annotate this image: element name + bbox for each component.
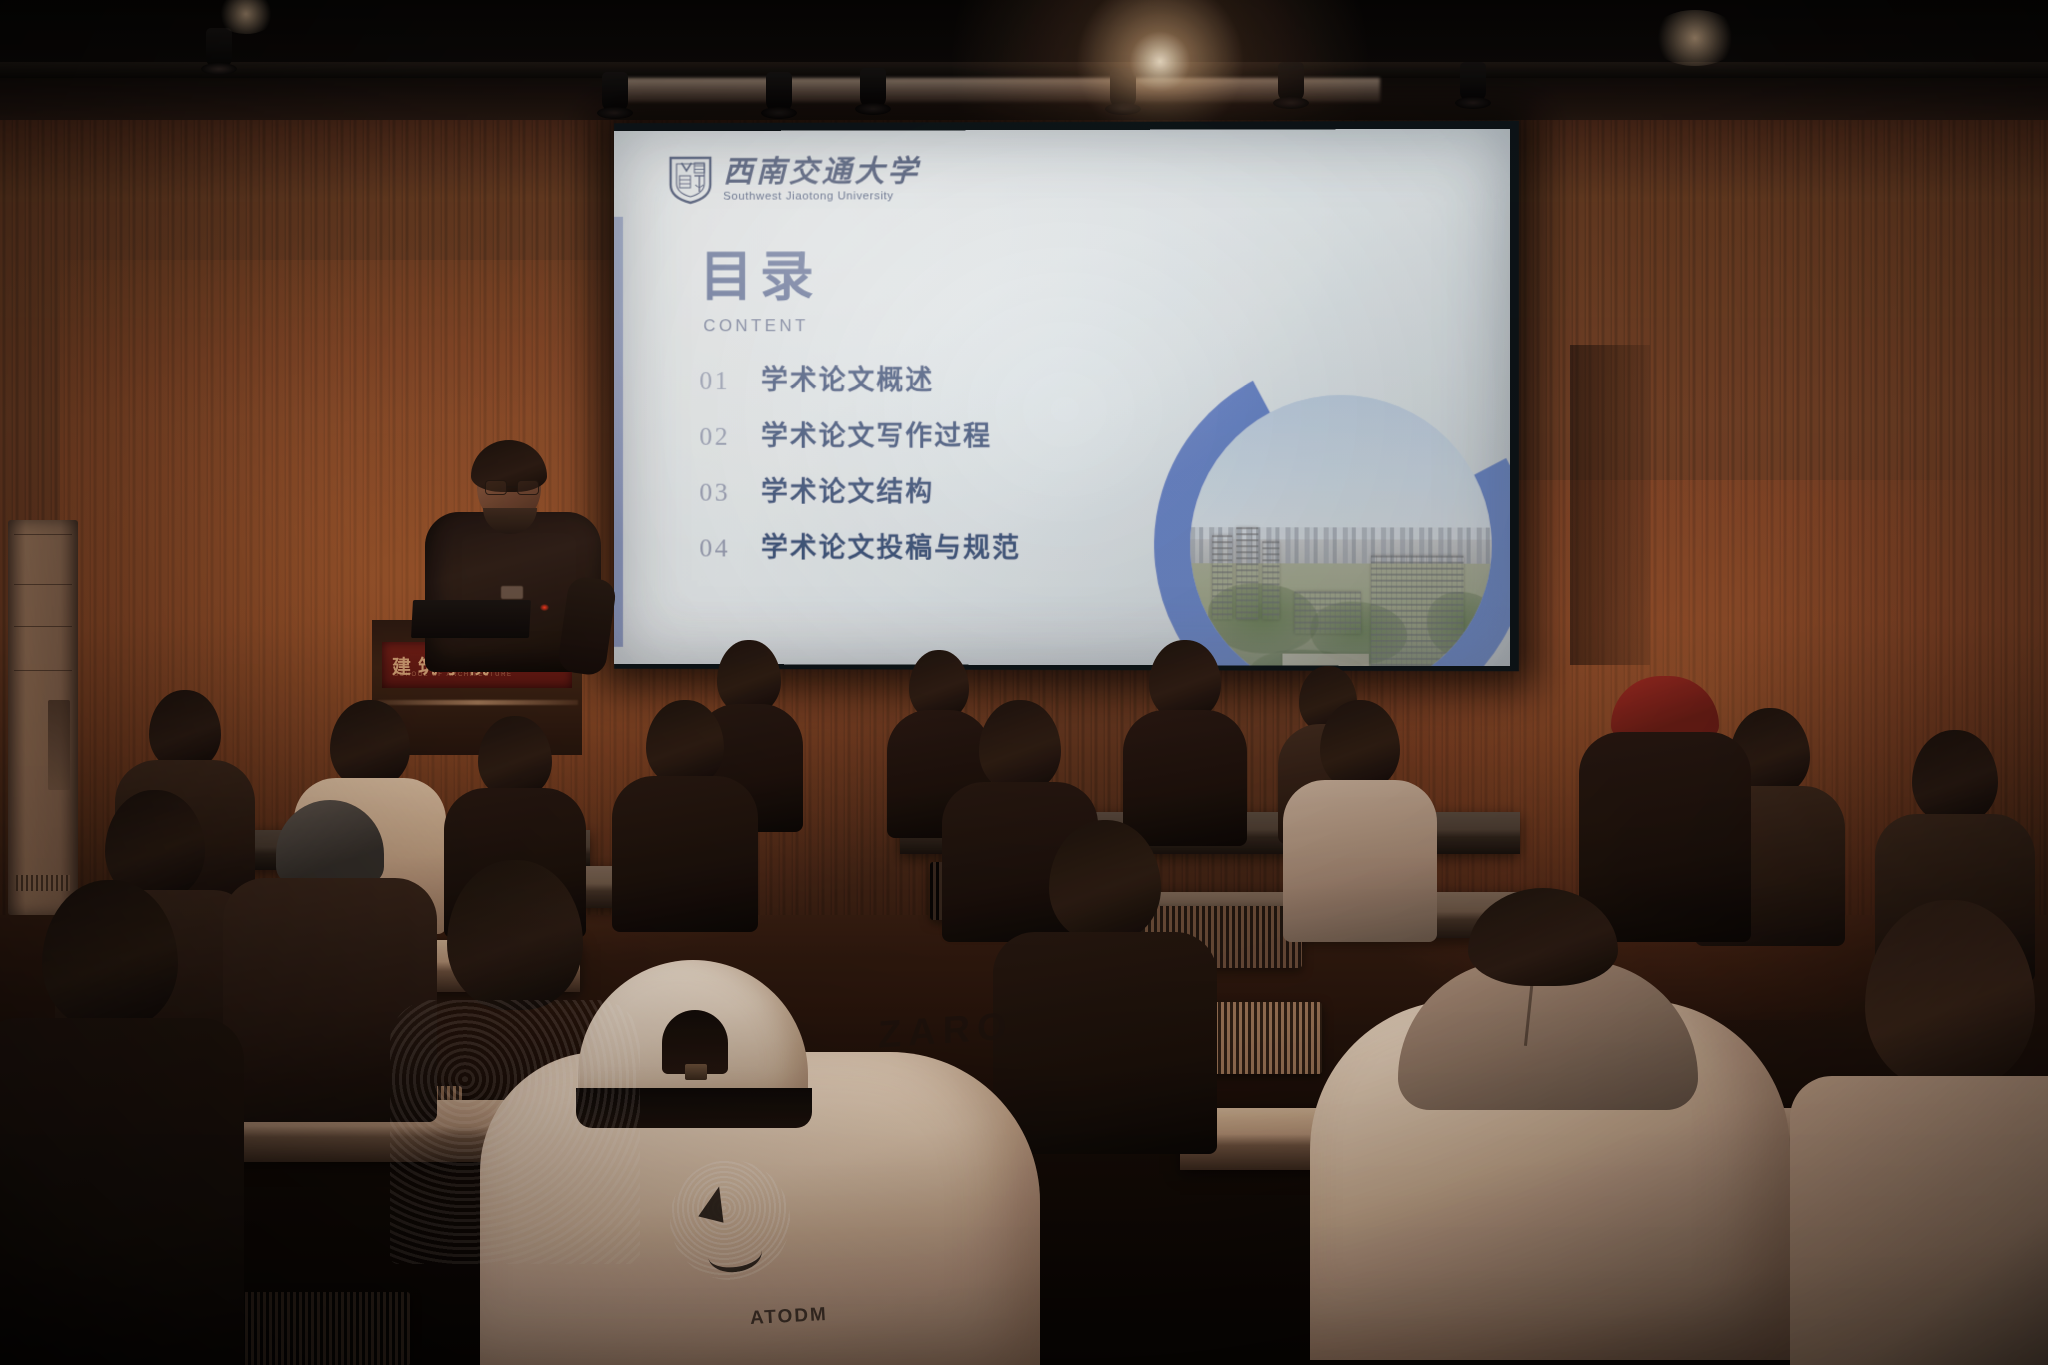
slide-accent-bar [614,217,623,647]
red-cap-icon [1611,676,1719,738]
university-shield-icon [668,155,714,205]
audience-head [979,700,1061,792]
toc-item-number: 01 [699,366,761,396]
spotlight-icon [1110,68,1136,108]
audience-torso [390,1000,640,1264]
cap-buckle-icon [685,1064,707,1080]
spotlight-icon [602,72,628,112]
campus-photo-circle [1154,359,1510,666]
audience-member-hoodie [1310,850,1790,1360]
ceiling [0,0,2048,120]
audience-member [1130,640,1240,840]
blue-ring-icon [1154,359,1510,666]
laser-pointer-dot [540,604,549,611]
audience-torso [612,776,758,932]
audience-member [620,700,750,930]
spotlight-icon [206,28,232,68]
audience-head [330,700,410,788]
audience-member [0,880,240,1365]
ac-control-panel [48,700,70,790]
audience-head [149,690,221,770]
jacket-subtext: ATODM [749,1304,828,1330]
audience-head [42,880,178,1030]
university-logo-text: 西南交通大学 Southwest Jiaotong University [723,157,920,203]
laptop [411,600,531,638]
audience-head [478,716,552,798]
audience-torso [0,1018,244,1365]
toc-item-label: 学术论文投稿与规范 [761,526,1021,565]
podium-banner-text-en: SCHOOL OF ARCHITECTURE [394,672,513,678]
audience-head [1865,900,2035,1090]
glasses-icon [485,480,539,496]
spotlight-icon [860,68,886,108]
toc-item-number: 03 [699,478,761,508]
toc-item[interactable]: 03 学术论文结构 [699,470,1168,526]
ceiling-track-beam [0,62,2048,78]
beanie-icon [276,800,384,884]
audience-torso [1790,1076,2048,1365]
spotlight-icon [1460,62,1486,102]
university-name-cn: 西南交通大学 [723,157,920,189]
jacket-text: ZARO [878,1005,1013,1058]
audience-head [1049,820,1161,942]
audience-head [447,860,583,1010]
ceiling-light-strip [620,78,1380,102]
spotlight-icon [1278,62,1304,102]
toc-item-label: 学术论文结构 [761,470,934,509]
audience-head [1149,640,1221,720]
projection-screen[interactable]: 西南交通大学 Southwest Jiaotong University 目录 … [614,129,1510,666]
audience-head [646,700,724,786]
audience-head [1912,730,1998,824]
lecture-hall-scene: 西南交通大学 Southwest Jiaotong University 目录 … [0,0,2048,1365]
slide-title-cn: 目录 [699,250,820,304]
audience-head [1468,888,1618,986]
university-name-en: Southwest Jiaotong University [723,190,920,202]
right-wall-panel [1570,345,1650,665]
toc-item[interactable]: 02 学术论文写作过程 [699,414,1168,470]
toc-item-label: 学术论文写作过程 [761,414,992,453]
toc-item-label: 学术论文概述 [761,358,934,397]
toc-item-number: 04 [699,534,761,564]
toc-item-number: 02 [699,422,761,452]
table-of-contents: 01 学术论文概述 02 学术论文写作过程 03 学术论文结构 04 学术论文投… [699,358,1168,582]
spotlight-icon [766,72,792,112]
toc-item[interactable]: 01 学术论文概述 [699,358,1168,414]
university-logo: 西南交通大学 Southwest Jiaotong University [668,154,921,204]
audience-head [1320,700,1400,790]
slide-title-en: CONTENT [703,316,808,336]
speaker-badge [501,586,523,599]
toc-item[interactable]: 04 学术论文投稿与规范 [699,526,1168,583]
audience-member [1800,900,2048,1365]
audience-member [400,860,630,1260]
